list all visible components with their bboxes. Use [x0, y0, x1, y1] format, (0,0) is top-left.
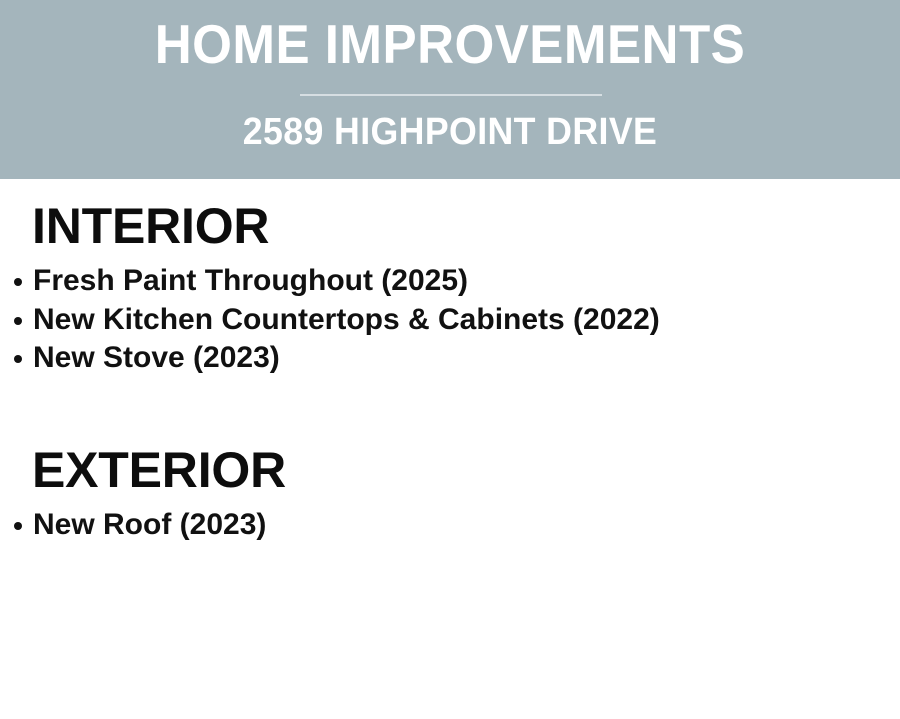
improvement-list-exterior: New Roof (2023)	[0, 506, 900, 545]
list-item-label: Fresh Paint Throughout (2025)	[33, 264, 468, 297]
bullet-dot-icon	[14, 522, 22, 530]
list-item: New Stove (2023)	[0, 339, 900, 378]
flyer-page: HOME IMPROVEMENTS 2589 HIGHPOINT DRIVE I…	[0, 0, 900, 719]
list-item-label: New Roof (2023)	[33, 508, 266, 541]
list-item: Fresh Paint Throughout (2025)	[0, 262, 900, 301]
section-interior: INTERIOR Fresh Paint Throughout (2025) N…	[0, 199, 900, 378]
bullet-dot-icon	[14, 355, 22, 363]
page-title: HOME IMPROVEMENTS	[32, 10, 869, 78]
content-area: INTERIOR Fresh Paint Throughout (2025) N…	[0, 179, 900, 719]
horizontal-rule-divider-icon	[300, 94, 602, 96]
section-heading-exterior: EXTERIOR	[32, 443, 900, 497]
property-address-subtitle: 2589 HIGHPOINT DRIVE	[27, 108, 873, 156]
section-heading-interior: INTERIOR	[32, 199, 900, 253]
list-item-label: New Kitchen Countertops & Cabinets (2022…	[33, 303, 660, 336]
bullet-dot-icon	[14, 317, 22, 325]
header-band: HOME IMPROVEMENTS 2589 HIGHPOINT DRIVE	[0, 0, 900, 179]
list-item: New Roof (2023)	[0, 506, 900, 545]
bullet-dot-icon	[14, 278, 22, 286]
improvement-list-interior: Fresh Paint Throughout (2025) New Kitche…	[0, 262, 900, 378]
list-item-label: New Stove (2023)	[33, 341, 280, 374]
list-item: New Kitchen Countertops & Cabinets (2022…	[0, 301, 900, 340]
section-exterior: EXTERIOR New Roof (2023)	[0, 443, 900, 545]
